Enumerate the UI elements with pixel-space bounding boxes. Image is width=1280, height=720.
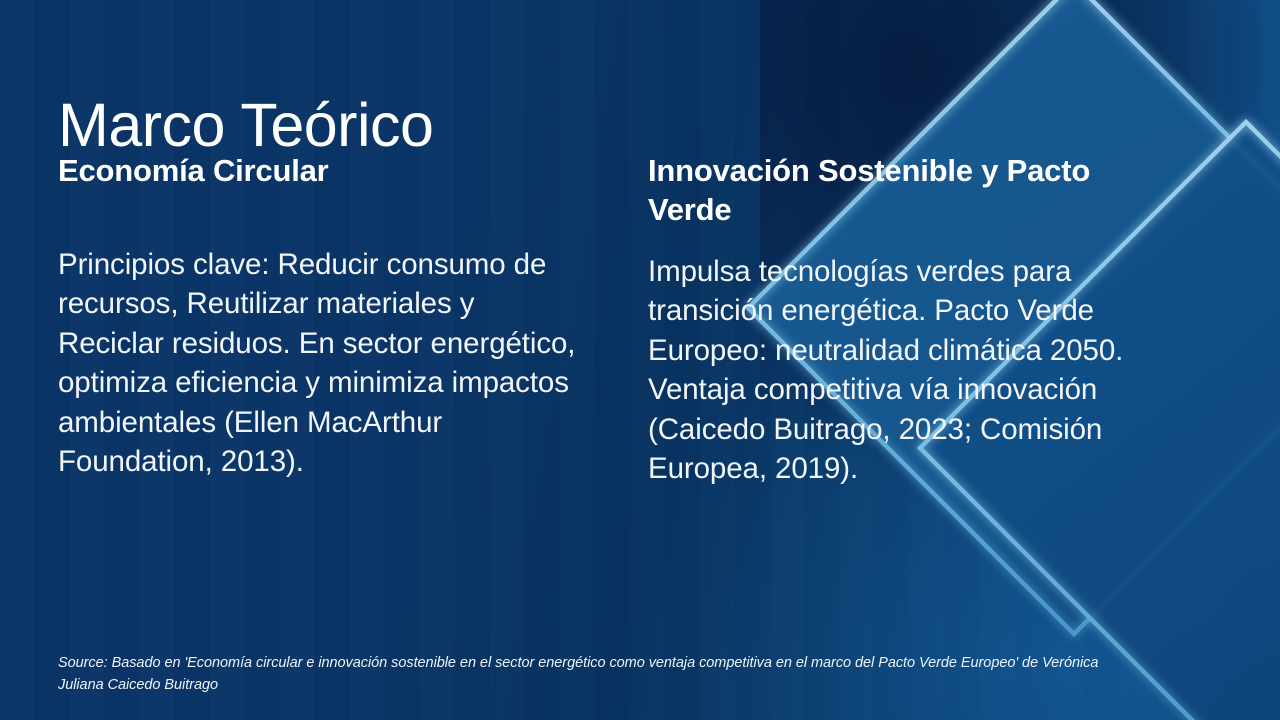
slide-content: Marco Teórico Economía Circular Principi…	[0, 0, 1280, 720]
source-citation: Source: Basado en 'Economía circular e i…	[58, 652, 1108, 696]
column-right-body: Impulsa tecnologías verdes para transici…	[648, 252, 1153, 489]
page-title: Marco Teórico	[58, 93, 958, 159]
column-left: Economía Circular Principios clave: Redu…	[58, 152, 588, 482]
presentation-slide: Marco Teórico Economía Circular Principi…	[0, 0, 1280, 720]
column-left-body: Principios clave: Reducir consumo de rec…	[58, 245, 588, 482]
column-right: Innovación Sostenible y Pacto Verde Impu…	[648, 152, 1153, 489]
column-left-heading: Economía Circular	[58, 152, 588, 191]
column-right-heading: Innovación Sostenible y Pacto Verde	[648, 152, 1153, 230]
